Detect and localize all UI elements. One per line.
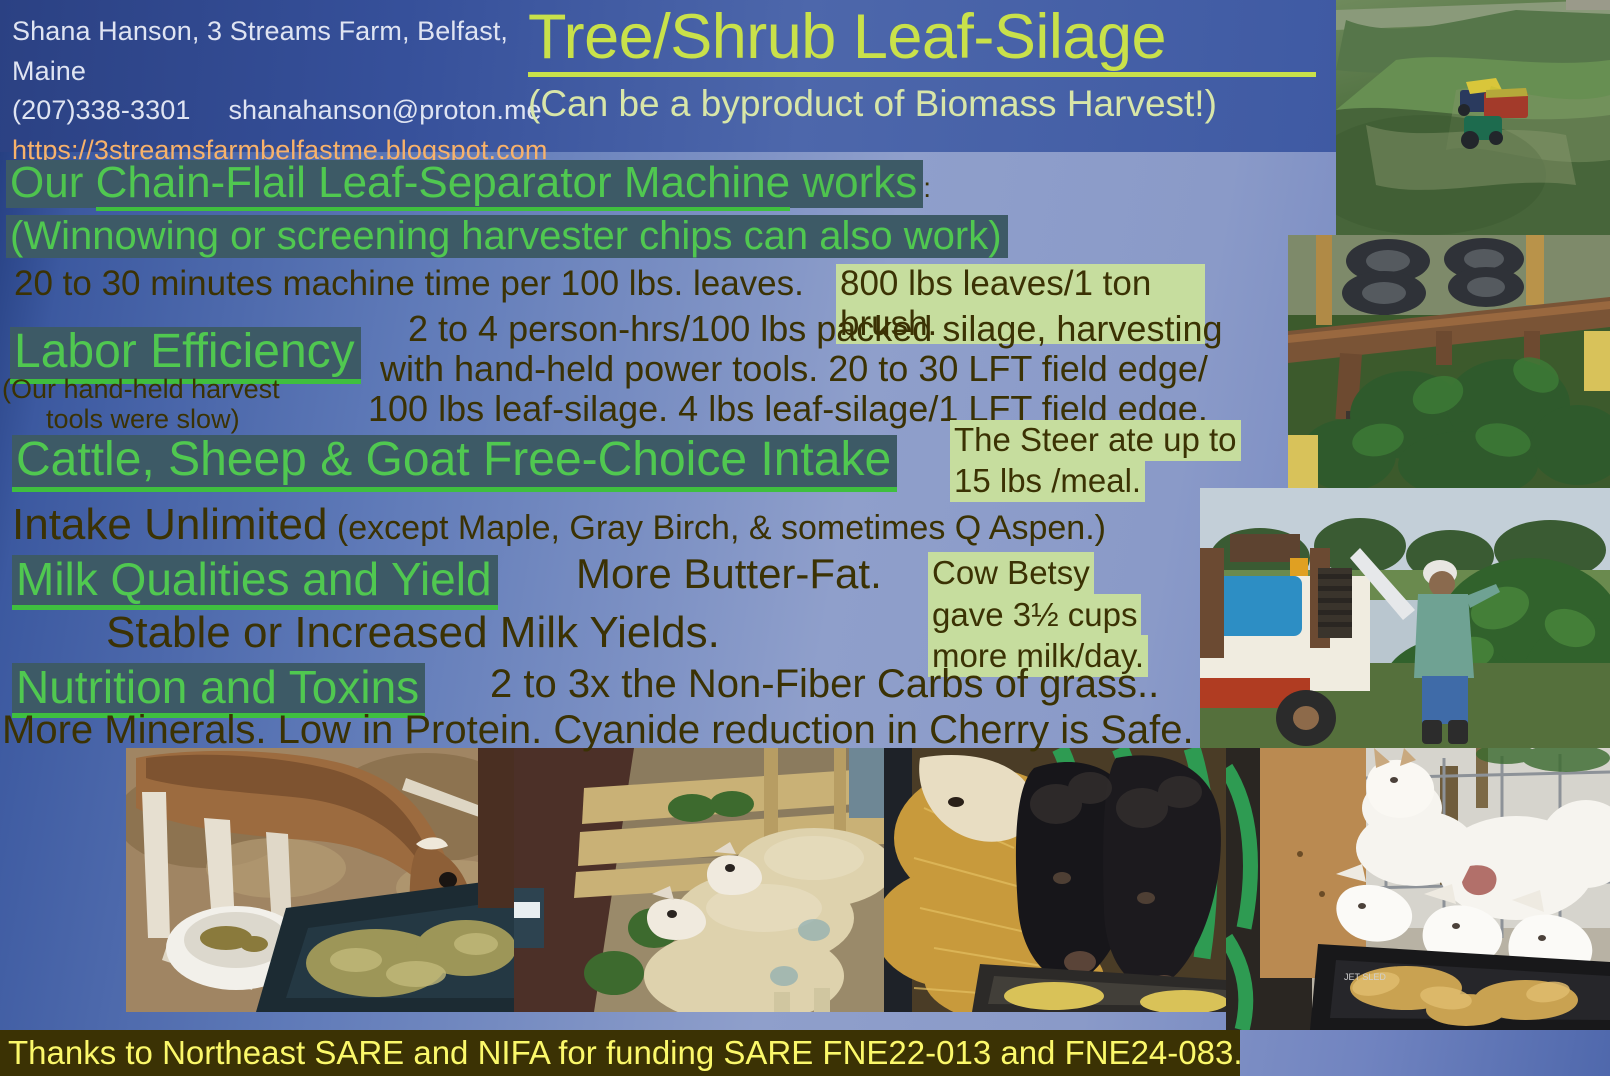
harvest-operator-photo [1200, 488, 1610, 748]
contact-block: Shana Hanson, 3 Streams Farm, Belfast, M… [12, 12, 522, 171]
cow-feeding-photo [126, 748, 514, 1012]
funding-credit-bar: Thanks to Northeast SARE and NIFA for fu… [0, 1030, 1240, 1076]
page-subtitle: (Can be a byproduct of Biomass Harvest!) [528, 84, 1328, 125]
winnowing-note-row: (Winnowing or screening harvester chips … [6, 214, 1008, 259]
machine-time-row: 20 to 30 minutes machine time per 100 lb… [14, 264, 804, 304]
intake-unlimited-row: Intake Unlimited (except Maple, Gray Bir… [12, 500, 1106, 550]
contact-name: Shana Hanson, 3 Streams Farm, Belfast, M… [12, 12, 522, 91]
cow-betsy-line-1: Cow Betsy [928, 552, 1094, 594]
header-band: Shana Hanson, 3 Streams Farm, Belfast, M… [0, 0, 1336, 152]
cow-betsy-line-2: gave 3½ cups [928, 594, 1141, 636]
contact-phone-email: (207)338-3301 shanahanson@proton.me [12, 91, 522, 131]
milk-heading: Milk Qualities and Yield [12, 555, 498, 610]
goats-feeding-photo: JET SLED [1226, 748, 1610, 1030]
non-fiber-carbs-row: 2 to 3x the Non-Fiber Carbs of grass.. [490, 662, 1159, 707]
milk-heading-row: Milk Qualities and Yield [12, 552, 498, 610]
trough-brand-text: JET SLED [1344, 972, 1386, 982]
steer-intake-line-1: The Steer ate up to [950, 420, 1241, 461]
page-title: Tree/Shrub Leaf-Silage [528, 4, 1328, 70]
cattle-feeding-photo [884, 748, 1226, 1012]
machine-heading-row: Our Chain-Flail Leaf-Separator Machine w… [6, 158, 931, 208]
intake-unlimited-label: Intake Unlimited [12, 500, 327, 549]
cow-betsy-tag: Cow Betsy gave 3½ cups more milk/day. [928, 552, 1148, 677]
body-content: Our Chain-Flail Leaf-Separator Machine w… [0, 152, 1205, 748]
machine-heading-prefix: Our [10, 158, 96, 207]
leaf-separator-machine-photo [1288, 235, 1610, 488]
steer-intake-line-2: 15 lbs /meal. [950, 461, 1145, 502]
steer-intake-tag: The Steer ate up to 15 lbs /meal. [950, 420, 1241, 502]
labor-line-2: with hand-held power tools. 20 to 30 LFT… [380, 348, 1208, 390]
intake-heading-row: Cattle, Sheep & Goat Free-Choice Intake [12, 432, 897, 492]
slow-tools-note-1: (Our hand-held harvest [2, 374, 280, 405]
labor-line-1: 2 to 4 person-hrs/100 lbs packed silage,… [408, 308, 1222, 350]
title-block: Tree/Shrub Leaf-Silage (Can be a byprodu… [528, 4, 1328, 125]
poster-canvas: Shana Hanson, 3 Streams Farm, Belfast, M… [0, 0, 1610, 1076]
machine-heading-colon: : [923, 172, 931, 203]
winnowing-note: (Winnowing or screening harvester chips … [6, 215, 1008, 258]
title-underline [528, 72, 1316, 77]
slow-tools-note-2: tools were slow) [46, 404, 240, 435]
butter-fat-row: More Butter-Fat. [576, 550, 882, 598]
funding-credit-text: Thanks to Northeast SARE and NIFA for fu… [0, 1034, 1243, 1072]
aerial-harvest-photo [1336, 0, 1610, 235]
sheep-feeding-photo [514, 748, 884, 1012]
intake-heading: Cattle, Sheep & Goat Free-Choice Intake [12, 435, 897, 492]
intake-exceptions: (except Maple, Gray Birch, & sometimes Q… [327, 509, 1106, 547]
machine-heading-underlined: Chain-Flail Leaf-Separator Machine [96, 158, 791, 211]
minerals-protein-row: More Minerals. Low in Protein. Cyanide r… [2, 708, 1194, 753]
stable-yields-row: Stable or Increased Milk Yields. [106, 608, 720, 658]
machine-heading-suffix: works [790, 158, 917, 207]
